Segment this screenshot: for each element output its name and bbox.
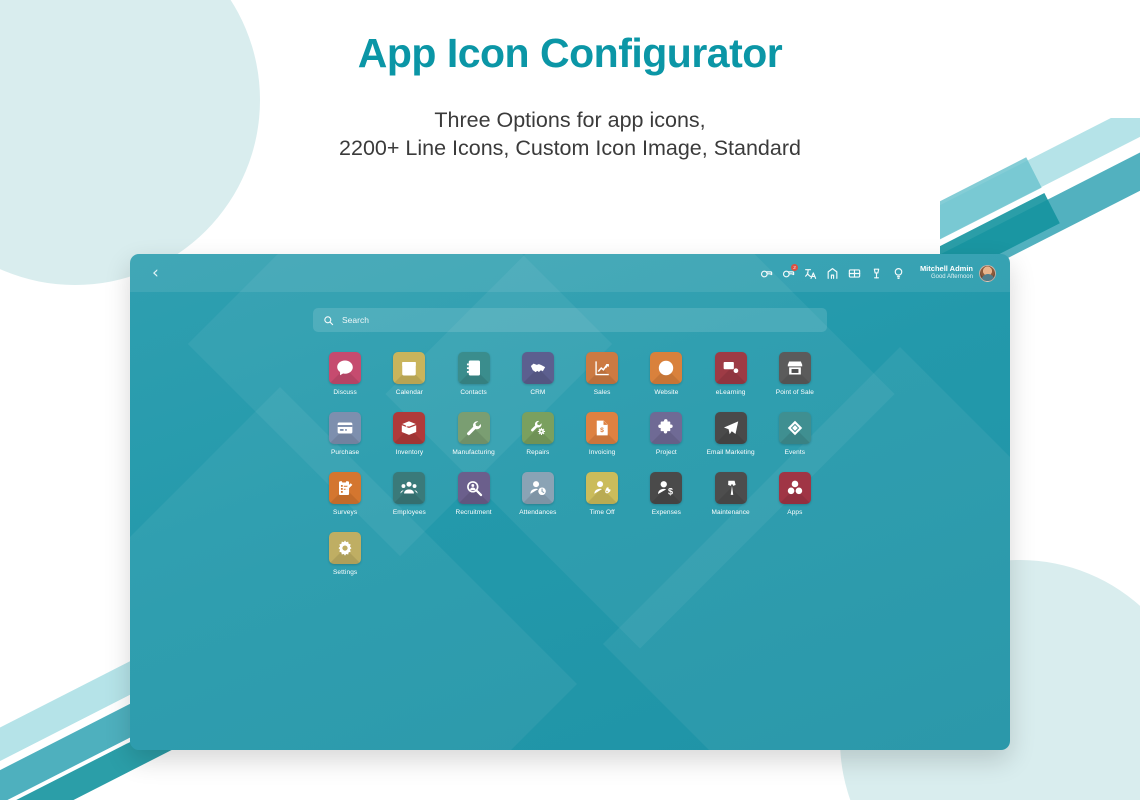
user-menu[interactable]: Mitchell Admin Good Afternoon — [920, 265, 996, 282]
inventory-box-icon[interactable] — [393, 412, 425, 444]
user-text: Mitchell Admin Good Afternoon — [920, 265, 973, 281]
user-name: Mitchell Admin — [920, 265, 973, 274]
app-label: Time Off — [589, 509, 614, 516]
crm-handshake-icon[interactable] — [522, 352, 554, 384]
time-off-user-gear-icon[interactable] — [586, 472, 618, 504]
elearning-board-icon[interactable] — [715, 352, 747, 384]
app-item-crm[interactable]: CRM — [506, 352, 570, 396]
discuss-chat-icon[interactable] — [329, 352, 361, 384]
app-item-sales[interactable]: Sales — [570, 352, 634, 396]
point-of-sale-shop-icon[interactable] — [779, 352, 811, 384]
app-item-repairs[interactable]: Repairs — [506, 412, 570, 456]
page-subtitle-line2: 2200+ Line Icons, Custom Icon Image, Sta… — [0, 134, 1140, 162]
app-label: Manufacturing — [452, 449, 495, 456]
app-label: Sales — [594, 389, 611, 396]
app-label: Events — [785, 449, 805, 456]
translate-icon[interactable] — [804, 267, 817, 280]
app-label: Recruitment — [456, 509, 492, 516]
company-icon[interactable] — [826, 267, 839, 280]
svg-text:$: $ — [600, 427, 604, 434]
page-root: App Icon Configurator Three Options for … — [0, 0, 1140, 800]
help-icon[interactable] — [892, 267, 905, 280]
app-item-discuss[interactable]: Discuss — [313, 352, 377, 396]
app-label: Invoicing — [589, 449, 616, 456]
manufacturing-wrench-icon[interactable] — [458, 412, 490, 444]
app-item-attendances[interactable]: Attendances — [506, 472, 570, 516]
app-window: ‹ 3 — [130, 254, 1010, 750]
app-label: Employees — [393, 509, 426, 516]
app-label: Point of Sale — [776, 389, 814, 396]
calendar-icon[interactable] — [393, 352, 425, 384]
app-label: Repairs — [526, 449, 549, 456]
app-item-maintenance[interactable]: Maintenance — [699, 472, 763, 516]
project-puzzle-icon[interactable] — [650, 412, 682, 444]
app-item-manufacturing[interactable]: Manufacturing — [442, 412, 506, 456]
app-label: Surveys — [333, 509, 357, 516]
activities-icon[interactable]: 3 — [782, 267, 795, 280]
app-label: eLearning — [716, 389, 746, 396]
invoicing-document-icon[interactable]: $ — [586, 412, 618, 444]
debug-bug-icon[interactable] — [870, 267, 883, 280]
app-item-purchase[interactable]: Purchase — [313, 412, 377, 456]
app-item-contacts[interactable]: Contacts — [442, 352, 506, 396]
app-label: Maintenance — [711, 509, 749, 516]
page-subtitle-line1: Three Options for app icons, — [0, 106, 1140, 134]
user-greeting: Good Afternoon — [920, 274, 973, 281]
app-item-settings[interactable]: Settings — [313, 532, 377, 576]
page-title: App Icon Configurator — [0, 30, 1140, 77]
search-box[interactable] — [313, 308, 827, 332]
settings-gear-icon[interactable] — [329, 532, 361, 564]
window-topbar: ‹ 3 — [130, 254, 1010, 292]
avatar[interactable] — [979, 265, 996, 282]
app-item-website[interactable]: Website — [634, 352, 698, 396]
app-item-inventory[interactable]: Inventory — [377, 412, 441, 456]
app-item-employees[interactable]: Employees — [377, 472, 441, 516]
app-label: Attendances — [519, 509, 556, 516]
apps-grid-icon[interactable] — [848, 267, 861, 280]
app-item-project[interactable]: Project — [634, 412, 698, 456]
app-label: Calendar — [396, 389, 423, 396]
app-item-invoicing[interactable]: $Invoicing — [570, 412, 634, 456]
expenses-user-dollar-icon[interactable]: $ — [650, 472, 682, 504]
app-label: Purchase — [331, 449, 359, 456]
app-label: Website — [654, 389, 678, 396]
sales-chart-icon[interactable] — [586, 352, 618, 384]
app-item-recruitment[interactable]: Recruitment — [442, 472, 506, 516]
app-item-surveys[interactable]: Surveys — [313, 472, 377, 516]
svg-text:$: $ — [668, 486, 673, 496]
app-label: CRM — [530, 389, 545, 396]
app-item-elearning[interactable]: eLearning — [699, 352, 763, 396]
search-input[interactable] — [342, 315, 817, 325]
apps-cubes-icon[interactable] — [779, 472, 811, 504]
activities-badge: 3 — [791, 264, 798, 271]
app-label: Project — [656, 449, 677, 456]
chevron-left-icon[interactable]: ‹ — [152, 265, 159, 282]
app-label: Expenses — [652, 509, 681, 516]
app-grid: DiscussCalendarContactsCRMSalesWebsiteeL… — [313, 352, 827, 576]
employees-group-icon[interactable] — [393, 472, 425, 504]
app-label: Apps — [787, 509, 802, 516]
page-subtitle: Three Options for app icons, 2200+ Line … — [0, 106, 1140, 162]
app-item-apps[interactable]: Apps — [763, 472, 827, 516]
repairs-gear-wrench-icon[interactable] — [522, 412, 554, 444]
app-label: Email Marketing — [707, 449, 755, 456]
events-ticket-icon[interactable] — [779, 412, 811, 444]
purchase-card-icon[interactable] — [329, 412, 361, 444]
app-item-time-off[interactable]: Time Off — [570, 472, 634, 516]
messages-icon[interactable] — [760, 267, 773, 280]
search-row — [130, 292, 1010, 332]
recruitment-search-user-icon[interactable] — [458, 472, 490, 504]
app-item-email-marketing[interactable]: Email Marketing — [699, 412, 763, 456]
app-label: Inventory — [396, 449, 424, 456]
app-label: Settings — [333, 569, 357, 576]
website-globe-icon[interactable] — [650, 352, 682, 384]
search-icon — [323, 315, 334, 326]
contacts-book-icon[interactable] — [458, 352, 490, 384]
maintenance-hammer-icon[interactable] — [715, 472, 747, 504]
app-item-point-of-sale[interactable]: Point of Sale — [763, 352, 827, 396]
app-label: Contacts — [460, 389, 486, 396]
surveys-clipboard-icon[interactable] — [329, 472, 361, 504]
attendances-user-clock-icon[interactable] — [522, 472, 554, 504]
app-item-events[interactable]: Events — [763, 412, 827, 456]
email-marketing-paperplane-icon[interactable] — [715, 412, 747, 444]
app-item-calendar[interactable]: Calendar — [377, 352, 441, 396]
topbar-icon-group: 3 — [760, 265, 996, 282]
app-item-expenses[interactable]: $Expenses — [634, 472, 698, 516]
app-label: Discuss — [333, 389, 356, 396]
